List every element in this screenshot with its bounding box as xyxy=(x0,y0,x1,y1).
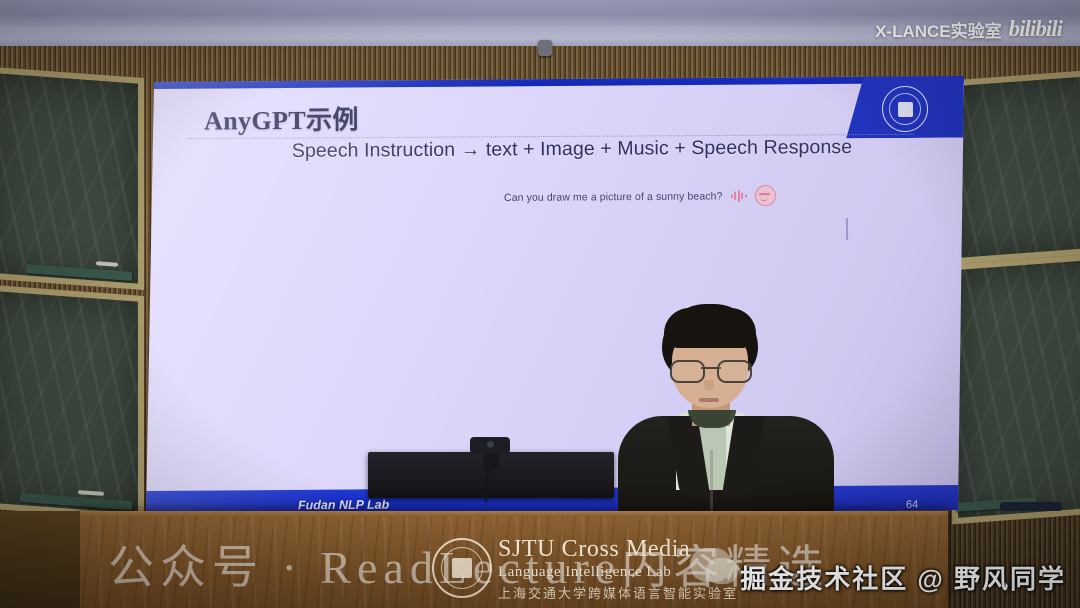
ceiling-sensor xyxy=(538,40,552,56)
fudan-university-seal-icon xyxy=(882,86,928,132)
glasses-lens-left xyxy=(670,360,705,383)
podium-top-edge xyxy=(78,511,948,516)
slide-corner-banner xyxy=(846,76,964,139)
webcam-lens xyxy=(487,441,494,448)
slide-headline: Speech Instruction → text + Image + Musi… xyxy=(272,136,872,163)
presenter-glasses xyxy=(670,360,752,380)
chalkboard-left-upper xyxy=(0,66,144,290)
audio-waveform-icon xyxy=(730,190,746,202)
podium-left-side xyxy=(0,511,80,608)
sjtu-seal-center xyxy=(452,558,472,578)
podium-org-block: SJTU Cross Media Language Intelligence L… xyxy=(498,536,738,602)
chalkboard-right-upper xyxy=(952,68,1080,265)
prompt-row: Can you draw me a picture of a sunny bea… xyxy=(504,185,776,208)
chalkboard-right-lower xyxy=(952,252,1080,525)
presenter-nose xyxy=(704,380,714,391)
bottom-watermark: 掘金技术社区 @ 野风同学 xyxy=(740,559,1066,596)
glasses-lens-right xyxy=(717,360,752,383)
podium-org-line1: SJTU Cross Media xyxy=(498,536,738,563)
prompt-text: Can you draw me a picture of a sunny bea… xyxy=(504,190,723,204)
lecture-video-frame: AnyGPT示例 Speech Instruction → text + Ima… xyxy=(0,0,1080,608)
slide-title: AnyGPT示例 xyxy=(204,99,359,137)
text-caret xyxy=(846,218,848,240)
desk-object-right xyxy=(1000,502,1062,511)
bilibili-logo-icon: bilibili xyxy=(1009,16,1062,42)
channel-name: X-LANCE实验室 xyxy=(875,17,1002,42)
webcam-stem xyxy=(483,452,499,470)
sjtu-seal-icon xyxy=(432,538,492,598)
chalkboard-left-lower xyxy=(0,284,144,520)
presenter xyxy=(600,300,890,522)
slide-page-number: 64 xyxy=(906,499,918,511)
podium-org-line3: 上海交通大学跨媒体语言智能实验室 xyxy=(498,583,738,602)
channel-watermark: X-LANCE实验室 bilibili xyxy=(875,16,1062,42)
presenter-hair-front xyxy=(664,308,756,348)
podium-org-line2: Language Intelligence Lab xyxy=(498,563,738,581)
user-avatar-icon xyxy=(754,185,775,206)
presenter-mouth xyxy=(699,398,719,402)
seal-center xyxy=(897,101,912,116)
